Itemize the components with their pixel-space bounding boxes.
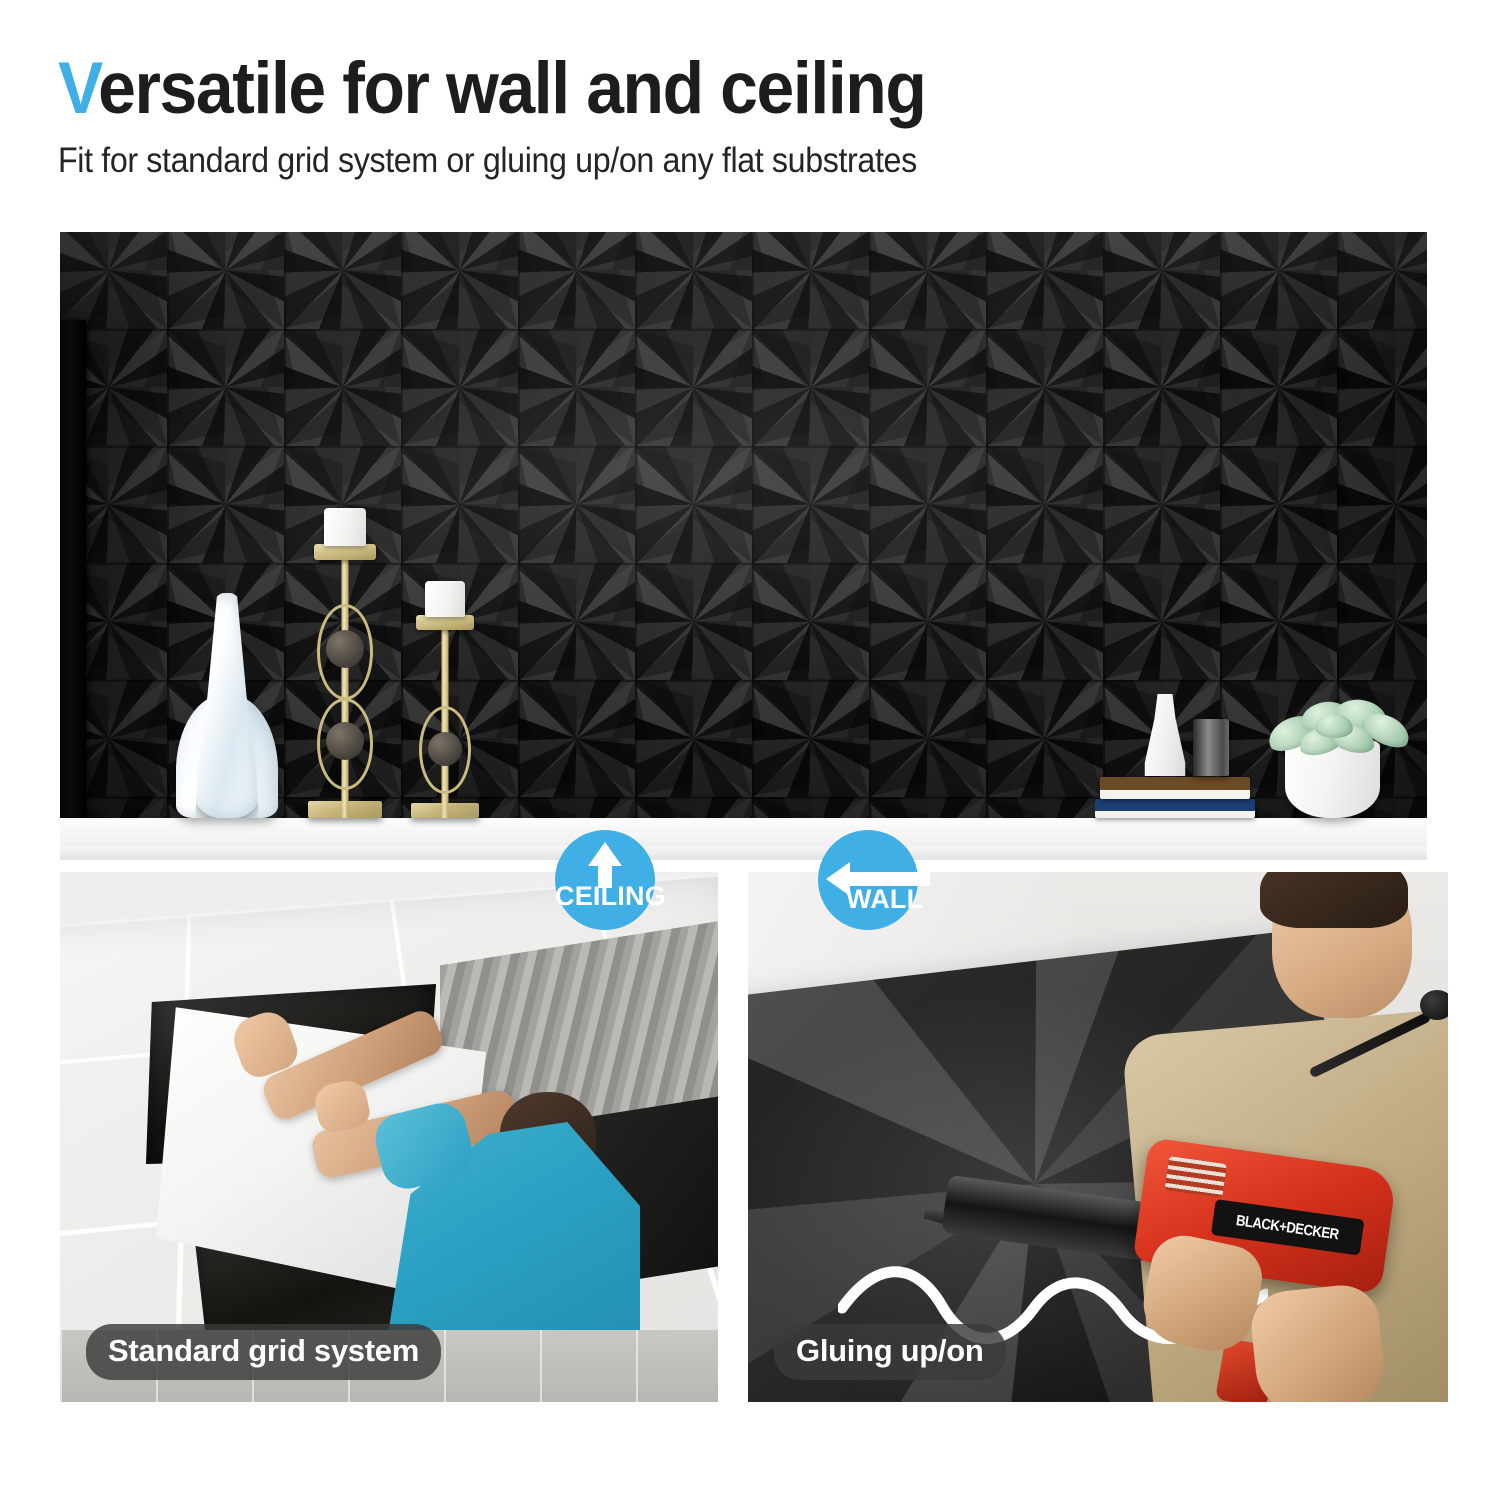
badge-ceiling-label: CEILING: [555, 881, 655, 912]
worker-hand-grip: [1248, 1282, 1388, 1402]
pillar-candle: [324, 508, 366, 546]
caption-standard-grid-system: Standard grid system: [86, 1324, 441, 1380]
page-title: Versatile for wall and ceiling: [58, 52, 1351, 126]
caulk-gun-plunger-handle: [1420, 990, 1448, 1020]
caption-gluing-up-on: Gluing up/on: [774, 1324, 1006, 1380]
candlestick-plate: [416, 615, 474, 630]
brand-text: BLACK+DECKER: [1235, 1212, 1340, 1243]
panel-gluing-up-on: BLACK+DECKER Gluing up/on: [748, 872, 1448, 1402]
candlestick-orb-lower: [326, 722, 364, 760]
table-front-edge: [60, 846, 1427, 860]
badge-wall-label: WALL: [846, 884, 923, 915]
panel-standard-grid-system: Standard grid system: [60, 872, 718, 1402]
badge-ceiling: CEILING: [555, 830, 655, 930]
hero-room-photo: [60, 232, 1427, 860]
candlestick-tall: [285, 518, 405, 818]
title-rest: ersatile for wall and ceiling: [98, 48, 925, 129]
page-subtitle: Fit for standard grid system or gluing u…: [58, 141, 1337, 181]
pillar-candle: [425, 581, 465, 617]
header: Versatile for wall and ceiling Fit for s…: [58, 52, 1448, 181]
candlestick-orb-upper: [326, 630, 364, 668]
candlestick-short: [390, 590, 500, 818]
worker-hair: [1260, 872, 1408, 928]
book-brown: [1100, 777, 1250, 799]
candlestick-orb: [428, 732, 462, 766]
title-accent-letter: V: [58, 48, 98, 129]
console-table: [60, 818, 1427, 860]
book-blue: [1095, 799, 1255, 818]
grey-cylinder-vessel: [1193, 719, 1229, 776]
tool-vent-grille: [1165, 1156, 1227, 1198]
badge-wall: WALL: [818, 830, 918, 930]
book-stack: [1095, 772, 1255, 818]
wall-edge-strip: [60, 320, 86, 824]
succulent-pot: [1285, 740, 1380, 818]
candlestick-plate: [314, 544, 376, 560]
